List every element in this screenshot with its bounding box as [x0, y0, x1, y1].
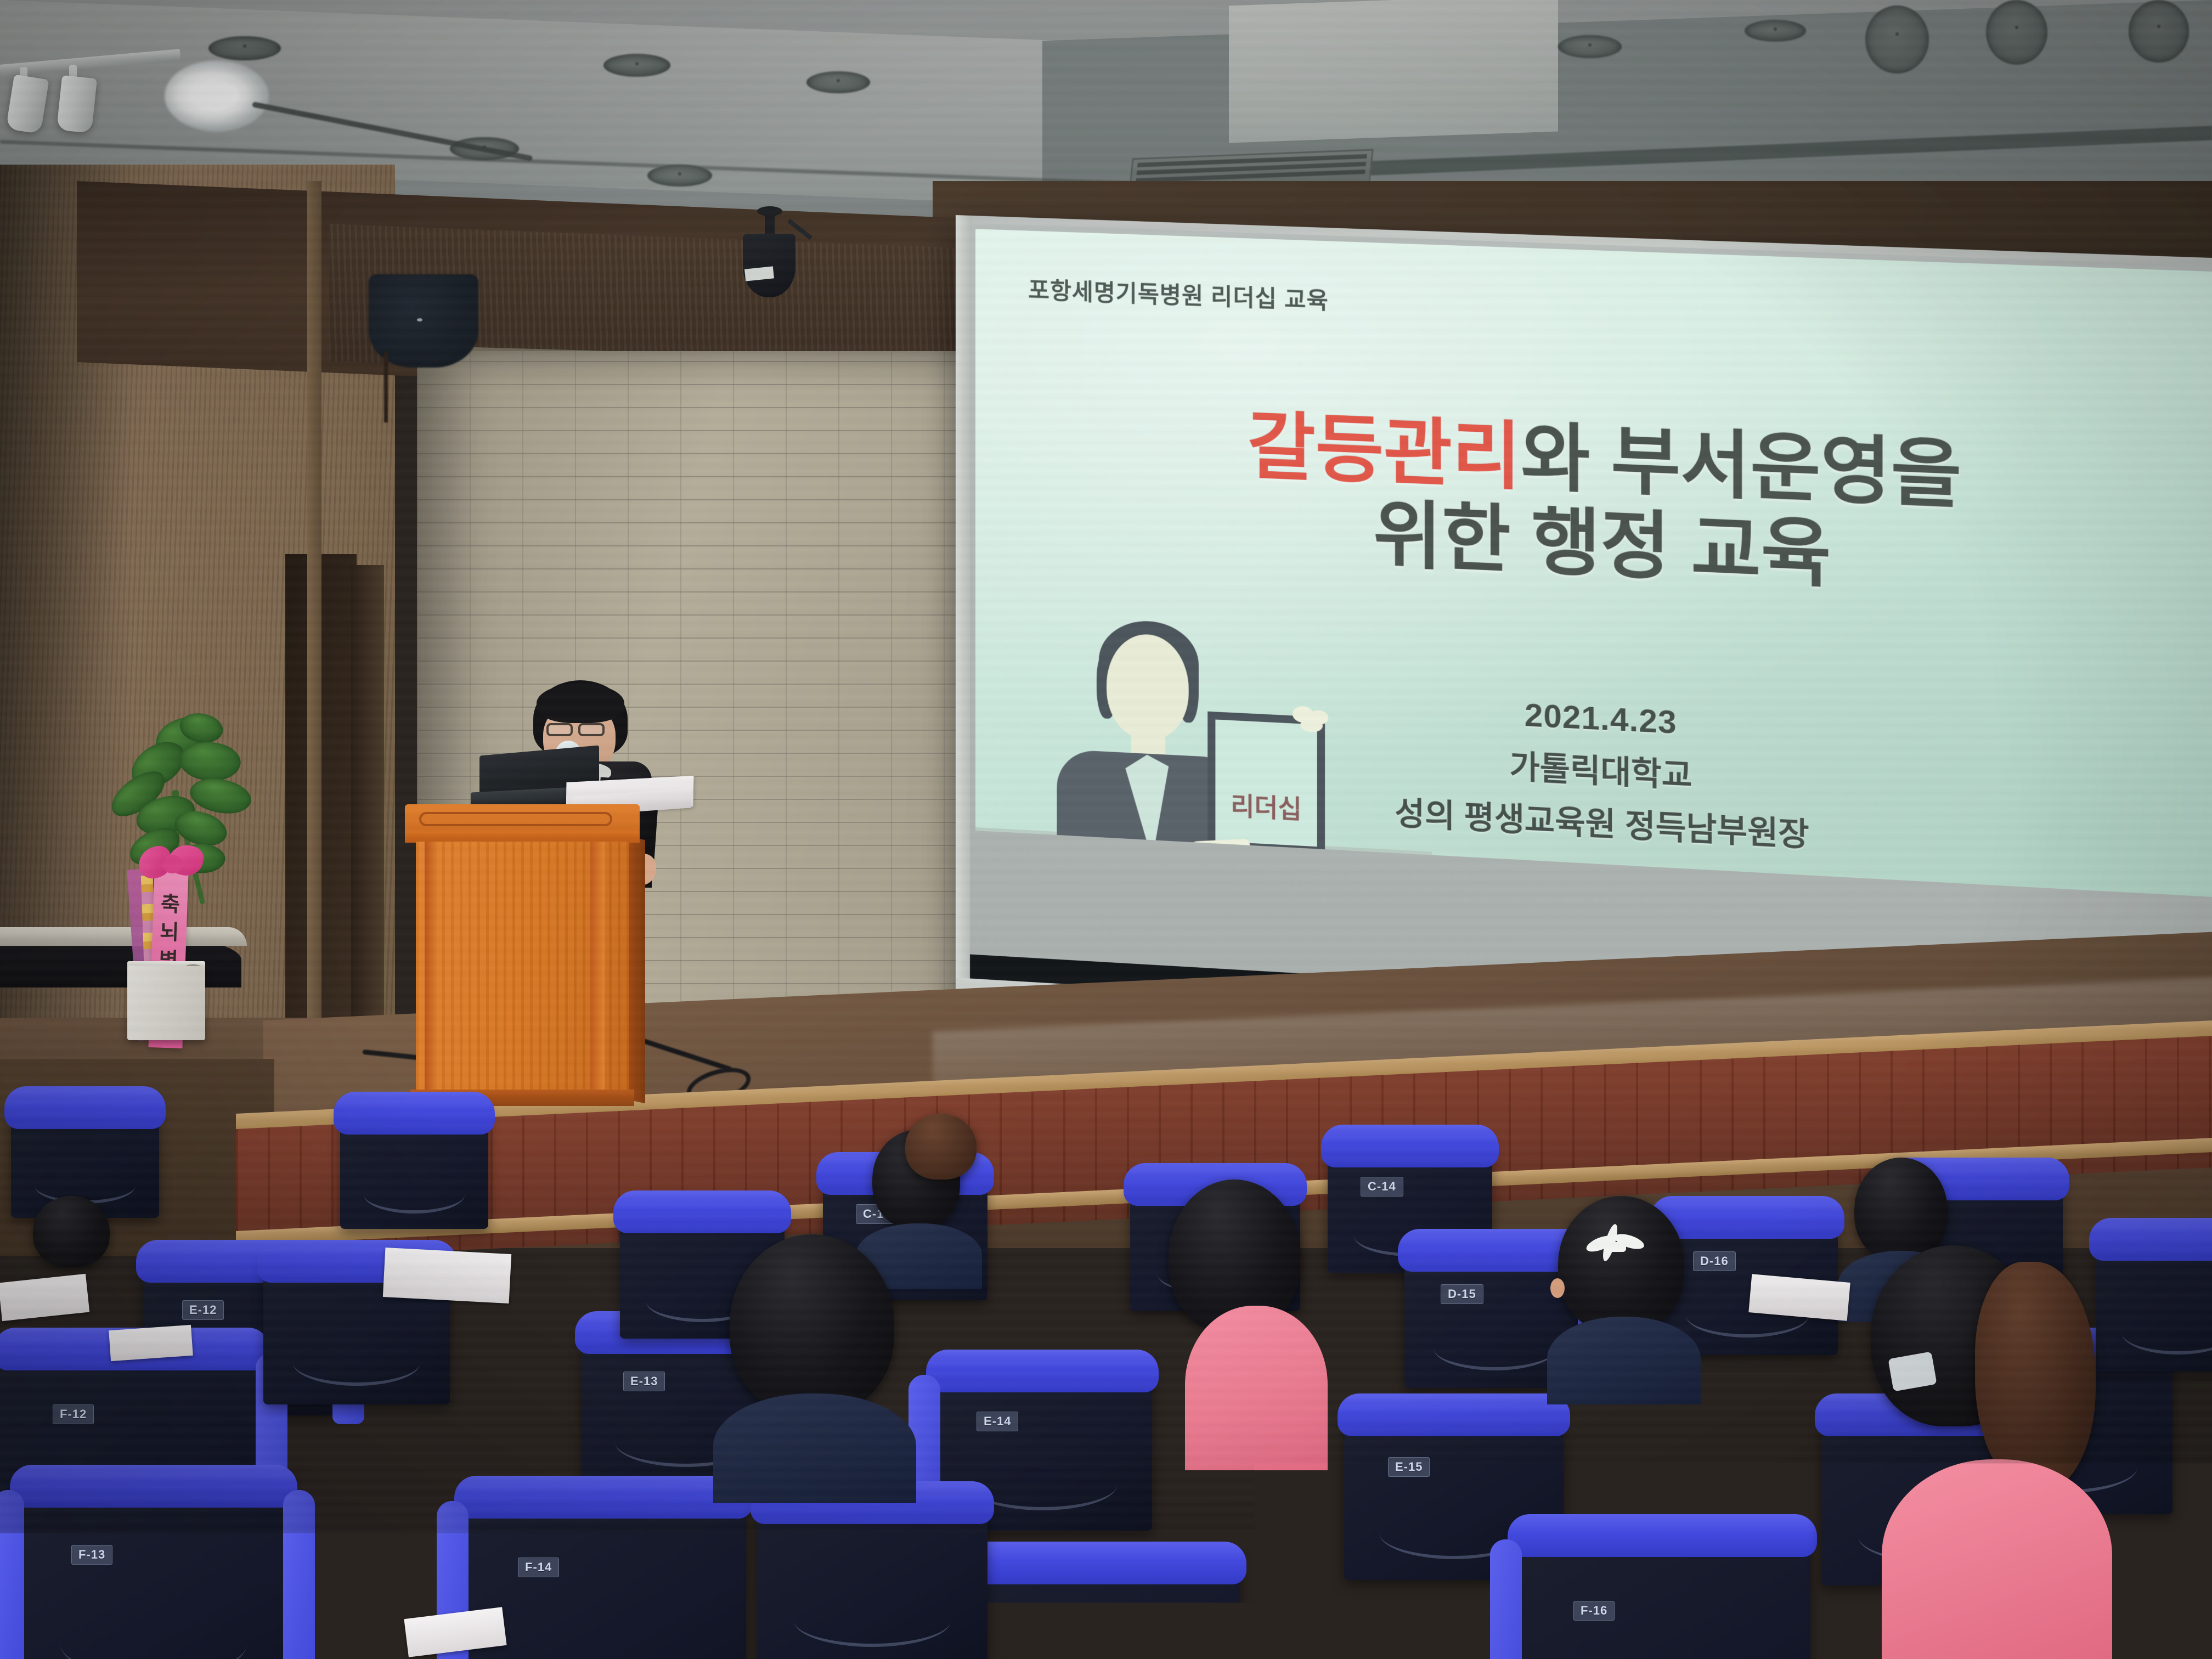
handout-paper	[383, 1248, 511, 1304]
ceiling-downlight-icon	[603, 54, 670, 77]
seat-label: F-13	[71, 1545, 112, 1565]
seat-label: E-14	[977, 1412, 1018, 1431]
speaker-glasses-icon	[546, 723, 613, 737]
audience-shoulders	[1547, 1317, 1701, 1404]
audience-shoulders	[713, 1393, 916, 1503]
ceiling-downlight-icon	[1865, 5, 1929, 74]
podium-stile	[425, 842, 439, 1098]
audience-head	[33, 1196, 110, 1267]
seat-label: D-15	[1441, 1284, 1483, 1304]
bow-knot	[162, 855, 182, 873]
ceiling-downlight-icon	[2129, 0, 2189, 63]
seat-label: E-15	[1388, 1457, 1430, 1477]
speaker-bangs	[537, 684, 624, 723]
seat[interactable]	[2096, 1229, 2212, 1372]
seat-label: F-12	[53, 1404, 94, 1424]
audience-hair	[1975, 1262, 2096, 1492]
ceiling-downlight-icon	[1558, 35, 1622, 58]
slide-title: 갈등관리와 부서운영을 위한 행정 교육	[975, 393, 2212, 616]
seat[interactable]: F-16	[1514, 1525, 1810, 1659]
audience-shoulders	[1882, 1459, 2112, 1659]
seat-label: E-12	[182, 1300, 224, 1320]
seat[interactable]	[757, 1492, 988, 1659]
seat[interactable]	[340, 1103, 488, 1229]
handout-paper	[109, 1325, 193, 1361]
slide-header-text: 포항세명기독병원 리더십 교육	[1028, 272, 1329, 316]
audience-hair-bun	[905, 1114, 977, 1180]
wall-panel-joint	[307, 181, 321, 1020]
ceiling-downlight-icon	[1986, 0, 2047, 65]
audience-shoulders	[1185, 1306, 1328, 1470]
seat[interactable]: F-15	[944, 1553, 1240, 1659]
hair-bow	[1585, 1223, 1651, 1269]
seat-label: D-16	[1693, 1251, 1736, 1271]
audience-head	[1854, 1158, 1948, 1262]
podium-groove	[419, 812, 612, 826]
ceiling-downlight-icon	[1745, 20, 1806, 42]
ceiling-access-hatch	[1229, 0, 1558, 143]
speaker-indicator	[417, 318, 422, 321]
speaker-mount	[384, 351, 388, 422]
slide-title-line2: 위한 행정 교육	[1373, 494, 1831, 596]
ribbon-text-2: 뇌	[152, 918, 187, 947]
presentation-slide: 포항세명기독병원 리더십 교육 갈등관리와 부서운영을 위한 행정 교육 202…	[975, 229, 2212, 899]
ribbon-text-1: 축	[153, 890, 188, 919]
door-jamb	[351, 565, 384, 1026]
slide-title-accent: 갈등관리	[1248, 405, 1521, 498]
illustration-board-label: 리더십	[1215, 785, 1317, 827]
seat-label: F-14	[518, 1558, 559, 1577]
stage-spotlight	[733, 206, 804, 321]
audience-head	[730, 1234, 894, 1415]
ceiling-downlight-icon	[806, 71, 870, 93]
podium-top	[405, 804, 640, 833]
seat[interactable]: F-13	[16, 1476, 291, 1659]
spotlight-head-icon	[57, 75, 97, 133]
seat-label: E-13	[623, 1372, 665, 1391]
seat-label: C-14	[1361, 1177, 1403, 1197]
wooden-podium	[409, 804, 635, 1111]
ribbon-bow	[138, 843, 205, 887]
ceiling-downlight-icon	[647, 165, 712, 187]
audience-ear	[1550, 1278, 1565, 1298]
podium-lip	[405, 831, 640, 843]
podium-stile	[590, 842, 605, 1098]
seat-label: F-16	[1573, 1601, 1615, 1621]
handout-paper	[0, 1274, 89, 1321]
ceiling-downlight-icon	[208, 36, 281, 60]
light-bulb-icon	[193, 82, 239, 110]
seat-label: F-15	[1003, 1627, 1044, 1646]
illustration-board: 리더십	[1207, 712, 1325, 855]
auditorium-photo: 포항세명기독병원 리더십 교육 갈등관리와 부서운영을 위한 행정 교육 202…	[0, 0, 2212, 1659]
slide-title-line1-rest: 와 부서운영을	[1521, 416, 1961, 517]
planter-box	[127, 966, 205, 1040]
podium-side-panel	[627, 836, 645, 1103]
